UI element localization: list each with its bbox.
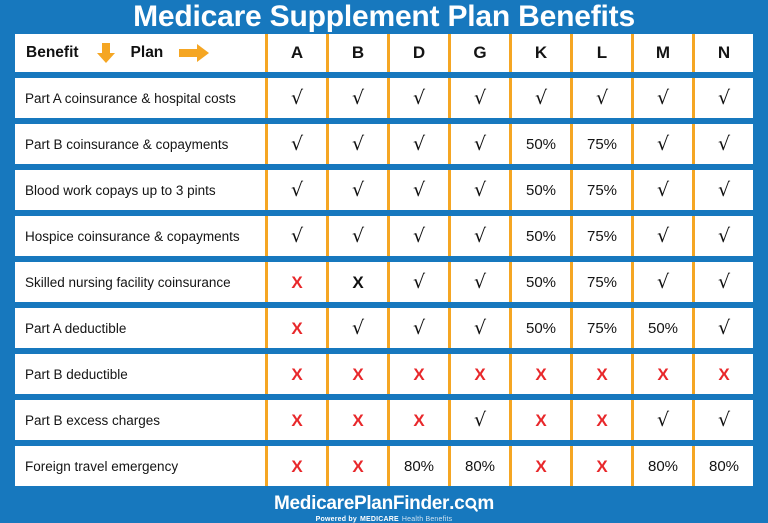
x-icon-red: X	[535, 458, 546, 475]
header-legend-cell: Benefit Plan	[15, 34, 265, 72]
cell-plan-n: √	[692, 124, 753, 164]
cell-plan-d: √	[387, 216, 448, 256]
percent-value: 50%	[526, 274, 556, 291]
cell-plan-n: √	[692, 170, 753, 210]
check-icon: √	[657, 181, 669, 200]
cell-plan-b: X	[326, 262, 387, 302]
check-icon: √	[718, 273, 730, 292]
x-icon-red: X	[352, 366, 363, 383]
cell-plan-d: √	[387, 170, 448, 210]
cell-plan-k: 50%	[509, 216, 570, 256]
medicare-plan-benefits-infographic: Medicare Supplement Plan Benefits Benefi…	[0, 0, 768, 522]
arrow-right-icon	[179, 43, 209, 63]
cell-plan-k: 50%	[509, 308, 570, 348]
cell-plan-k: 50%	[509, 170, 570, 210]
cell-plan-n: √	[692, 216, 753, 256]
check-icon: √	[657, 135, 669, 154]
cell-plan-l: 75%	[570, 170, 631, 210]
cell-plan-a: √	[265, 216, 326, 256]
percent-value: 50%	[648, 320, 678, 337]
cell-plan-l: √	[570, 78, 631, 118]
benefit-label: Foreign travel emergency	[15, 446, 265, 486]
logo-text-dotc: .c	[449, 494, 464, 513]
percent-value: 80%	[648, 458, 678, 475]
cell-plan-n: 80%	[692, 446, 753, 486]
benefit-label: Part B coinsurance & copayments	[15, 124, 265, 164]
check-icon: √	[291, 227, 303, 246]
cell-plan-m: X	[631, 354, 692, 394]
cell-plan-k: X	[509, 354, 570, 394]
table-row: Part A coinsurance & hospital costs√√√√√…	[15, 78, 753, 118]
cell-plan-l: 75%	[570, 262, 631, 302]
benefit-label: Part A deductible	[15, 308, 265, 348]
cell-plan-g: √	[448, 216, 509, 256]
x-icon-red: X	[596, 412, 607, 429]
percent-value: 75%	[587, 274, 617, 291]
header-plan-n: N	[692, 34, 753, 72]
logo-text-medicareplan: MedicarePlan	[274, 494, 393, 513]
check-icon: √	[291, 135, 303, 154]
table-body: Part A coinsurance & hospital costs√√√√√…	[15, 78, 753, 492]
check-icon: √	[474, 319, 486, 338]
cell-plan-g: X	[448, 354, 509, 394]
percent-value: 80%	[404, 458, 434, 475]
cell-plan-g: √	[448, 124, 509, 164]
header-plan-g: G	[448, 34, 509, 72]
check-icon: √	[657, 411, 669, 430]
cell-plan-a: X	[265, 262, 326, 302]
check-icon: √	[718, 89, 730, 108]
cell-plan-k: 50%	[509, 262, 570, 302]
cell-plan-l: X	[570, 354, 631, 394]
cell-plan-b: √	[326, 78, 387, 118]
cell-plan-k: √	[509, 78, 570, 118]
cell-plan-n: √	[692, 78, 753, 118]
check-icon: √	[657, 227, 669, 246]
check-icon: √	[413, 319, 425, 338]
x-icon-red: X	[291, 274, 302, 291]
cell-plan-g: √	[448, 78, 509, 118]
footer-logo: MedicarePlan Finder .c m Powered by MEDI…	[0, 492, 768, 523]
cell-plan-g: 80%	[448, 446, 509, 486]
cell-plan-a: X	[265, 446, 326, 486]
check-icon: √	[718, 411, 730, 430]
cell-plan-b: √	[326, 124, 387, 164]
cell-plan-d: X	[387, 400, 448, 440]
check-icon: √	[718, 227, 730, 246]
x-icon-red: X	[413, 412, 424, 429]
cell-plan-k: 50%	[509, 124, 570, 164]
percent-value: 50%	[526, 320, 556, 337]
cell-plan-k: X	[509, 400, 570, 440]
header-plan-label: Plan	[131, 44, 164, 62]
magnifier-o-icon	[465, 497, 477, 509]
logo-text-m: m	[477, 494, 494, 513]
percent-value: 50%	[526, 182, 556, 199]
x-icon-red: X	[535, 412, 546, 429]
cell-plan-b: √	[326, 216, 387, 256]
cell-plan-g: √	[448, 170, 509, 210]
header-plan-l: L	[570, 34, 631, 72]
cell-plan-k: X	[509, 446, 570, 486]
x-icon-red: X	[413, 366, 424, 383]
percent-value: 75%	[587, 182, 617, 199]
header-plan-d: D	[387, 34, 448, 72]
percent-value: 75%	[587, 136, 617, 153]
check-icon: √	[291, 89, 303, 108]
check-icon: √	[352, 89, 364, 108]
cell-plan-m: √	[631, 170, 692, 210]
x-icon-red: X	[718, 366, 729, 383]
cell-plan-n: √	[692, 262, 753, 302]
cell-plan-n: X	[692, 354, 753, 394]
cell-plan-a: √	[265, 170, 326, 210]
table-row: Foreign travel emergencyXX80%80%XX80%80%	[15, 446, 753, 486]
cell-plan-n: √	[692, 400, 753, 440]
check-icon: √	[474, 135, 486, 154]
cell-plan-d: √	[387, 262, 448, 302]
check-icon: √	[474, 227, 486, 246]
header-plan-a: A	[265, 34, 326, 72]
check-icon: √	[657, 273, 669, 292]
header-plan-b: B	[326, 34, 387, 72]
x-icon-red: X	[596, 366, 607, 383]
table-row: Part B deductibleXXXXXXXX	[15, 354, 753, 394]
check-icon: √	[474, 181, 486, 200]
cell-plan-b: X	[326, 354, 387, 394]
benefit-label: Hospice coinsurance & copayments	[15, 216, 265, 256]
check-icon: √	[657, 89, 669, 108]
x-icon-red: X	[596, 458, 607, 475]
cell-plan-m: √	[631, 78, 692, 118]
cell-plan-d: √	[387, 308, 448, 348]
table-row: Part B excess chargesXXX√XX√√	[15, 400, 753, 440]
percent-value: 50%	[526, 136, 556, 153]
benefit-label: Blood work copays up to 3 pints	[15, 170, 265, 210]
cell-plan-d: √	[387, 124, 448, 164]
check-icon: √	[413, 273, 425, 292]
x-icon-red: X	[352, 412, 363, 429]
cell-plan-l: X	[570, 400, 631, 440]
check-icon: √	[413, 227, 425, 246]
cell-plan-l: 75%	[570, 124, 631, 164]
check-icon: √	[474, 411, 486, 430]
cell-plan-d: X	[387, 354, 448, 394]
cell-plan-d: 80%	[387, 446, 448, 486]
check-icon: √	[474, 273, 486, 292]
benefit-label: Part B deductible	[15, 354, 265, 394]
benefit-label: Part B excess charges	[15, 400, 265, 440]
check-icon: √	[413, 135, 425, 154]
cell-plan-a: X	[265, 308, 326, 348]
table-header-row: Benefit Plan A B D G	[15, 34, 753, 72]
x-icon-red: X	[291, 320, 302, 337]
check-icon: √	[474, 89, 486, 108]
check-icon: √	[596, 89, 608, 108]
cell-plan-m: √	[631, 124, 692, 164]
x-icon-red: X	[291, 458, 302, 475]
page-title: Medicare Supplement Plan Benefits	[133, 0, 635, 34]
header-benefit-label: Benefit	[26, 44, 79, 62]
logo-dotcom: .c m	[449, 494, 494, 513]
cell-plan-a: √	[265, 78, 326, 118]
cell-plan-b: √	[326, 308, 387, 348]
check-icon: √	[718, 181, 730, 200]
cell-plan-m: √	[631, 216, 692, 256]
title-bar: Medicare Supplement Plan Benefits	[0, 0, 768, 34]
cell-plan-l: 75%	[570, 216, 631, 256]
benefit-label: Skilled nursing facility coinsurance	[15, 262, 265, 302]
table-row: Hospice coinsurance & copayments√√√√50%7…	[15, 216, 753, 256]
cell-plan-b: √	[326, 170, 387, 210]
check-icon: √	[352, 227, 364, 246]
check-icon: √	[413, 89, 425, 108]
cell-plan-b: X	[326, 446, 387, 486]
header-plan-m: M	[631, 34, 692, 72]
table-row: Part B coinsurance & copayments√√√√50%75…	[15, 124, 753, 164]
logo-wordmark: MedicarePlan Finder .c m	[274, 494, 494, 513]
logo-text-finder: Finder	[393, 494, 449, 513]
x-icon-red: X	[352, 458, 363, 475]
benefit-label: Part A coinsurance & hospital costs	[15, 78, 265, 118]
header-plan-k: K	[509, 34, 570, 72]
x-icon-red: X	[657, 366, 668, 383]
cell-plan-m: √	[631, 262, 692, 302]
cell-plan-b: X	[326, 400, 387, 440]
table-row: Blood work copays up to 3 pints√√√√50%75…	[15, 170, 753, 210]
cell-plan-g: √	[448, 308, 509, 348]
cell-plan-n: √	[692, 308, 753, 348]
cell-plan-m: 50%	[631, 308, 692, 348]
cell-plan-m: √	[631, 400, 692, 440]
check-icon: √	[352, 135, 364, 154]
check-icon: √	[352, 319, 364, 338]
cell-plan-g: √	[448, 400, 509, 440]
cell-plan-g: √	[448, 262, 509, 302]
percent-value: 75%	[587, 228, 617, 245]
x-icon-red: X	[535, 366, 546, 383]
percent-value: 75%	[587, 320, 617, 337]
arrow-down-icon	[95, 42, 117, 64]
cell-plan-a: √	[265, 124, 326, 164]
x-icon-red: X	[474, 366, 485, 383]
check-icon: √	[718, 319, 730, 338]
check-icon: √	[413, 181, 425, 200]
cell-plan-m: 80%	[631, 446, 692, 486]
benefits-table: Benefit Plan A B D G	[15, 34, 753, 492]
percent-value: 80%	[709, 458, 739, 475]
check-icon: √	[535, 89, 547, 108]
check-icon: √	[291, 181, 303, 200]
cell-plan-a: X	[265, 354, 326, 394]
percent-value: 80%	[465, 458, 495, 475]
percent-value: 50%	[526, 228, 556, 245]
cell-plan-d: √	[387, 78, 448, 118]
check-icon: √	[352, 181, 364, 200]
table-row: Part A deductibleX√√√50%75%50%√	[15, 308, 753, 348]
check-icon: √	[718, 135, 730, 154]
table-row: Skilled nursing facility coinsuranceXX√√…	[15, 262, 753, 302]
x-icon-red: X	[291, 412, 302, 429]
x-icon-red: X	[291, 366, 302, 383]
x-icon-black: X	[352, 274, 363, 291]
cell-plan-l: 75%	[570, 308, 631, 348]
cell-plan-a: X	[265, 400, 326, 440]
cell-plan-l: X	[570, 446, 631, 486]
